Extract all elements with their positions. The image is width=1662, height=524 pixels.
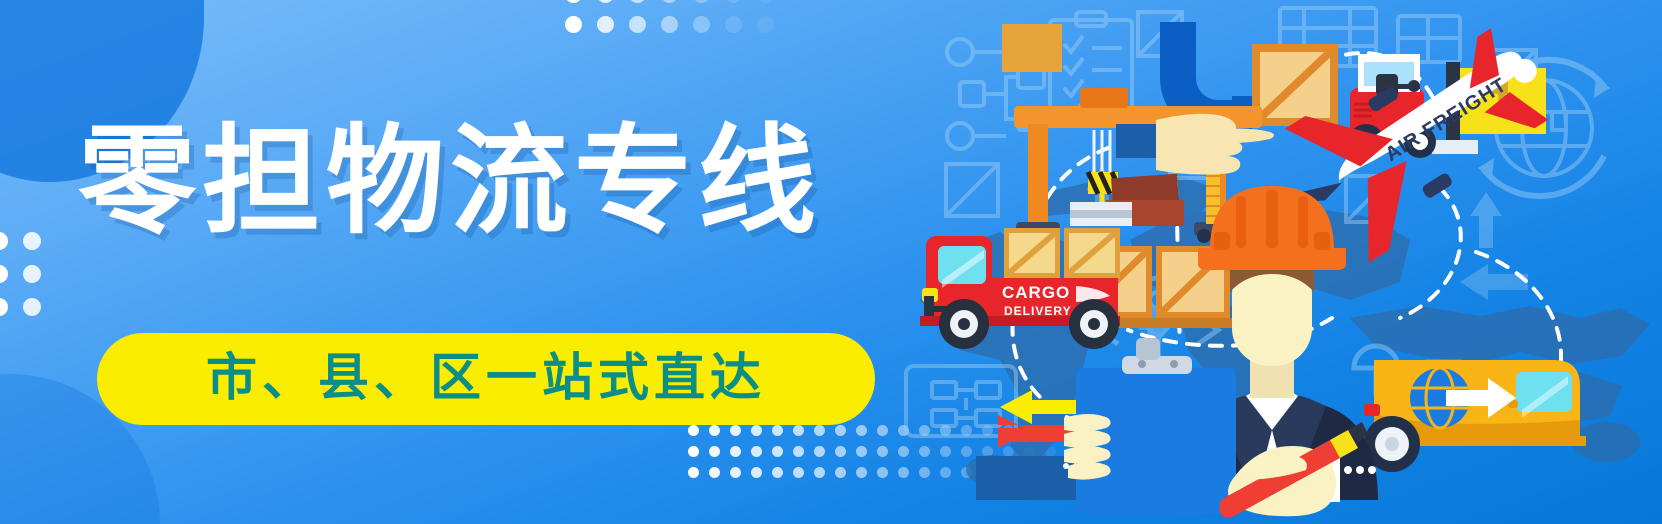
subtitle-pill: 市、县、区一站式直达	[97, 333, 875, 425]
subtitle-pill-label: 市、县、区一站式直达	[206, 354, 766, 405]
truck-label-line1: CARGO	[1002, 283, 1070, 302]
wooden-crate-icon	[1252, 44, 1338, 126]
logistics-illustration: CARGO DELIVERY	[880, 0, 1662, 524]
page-title: 零担物流专线	[78, 124, 822, 242]
logistics-banner: 零担物流专线 市、县、区一站式直达	[0, 0, 1662, 524]
copy-block: 零担物流专线 市、县、区一站式直达	[0, 0, 900, 524]
truck-label-line2: DELIVERY	[1004, 304, 1072, 318]
